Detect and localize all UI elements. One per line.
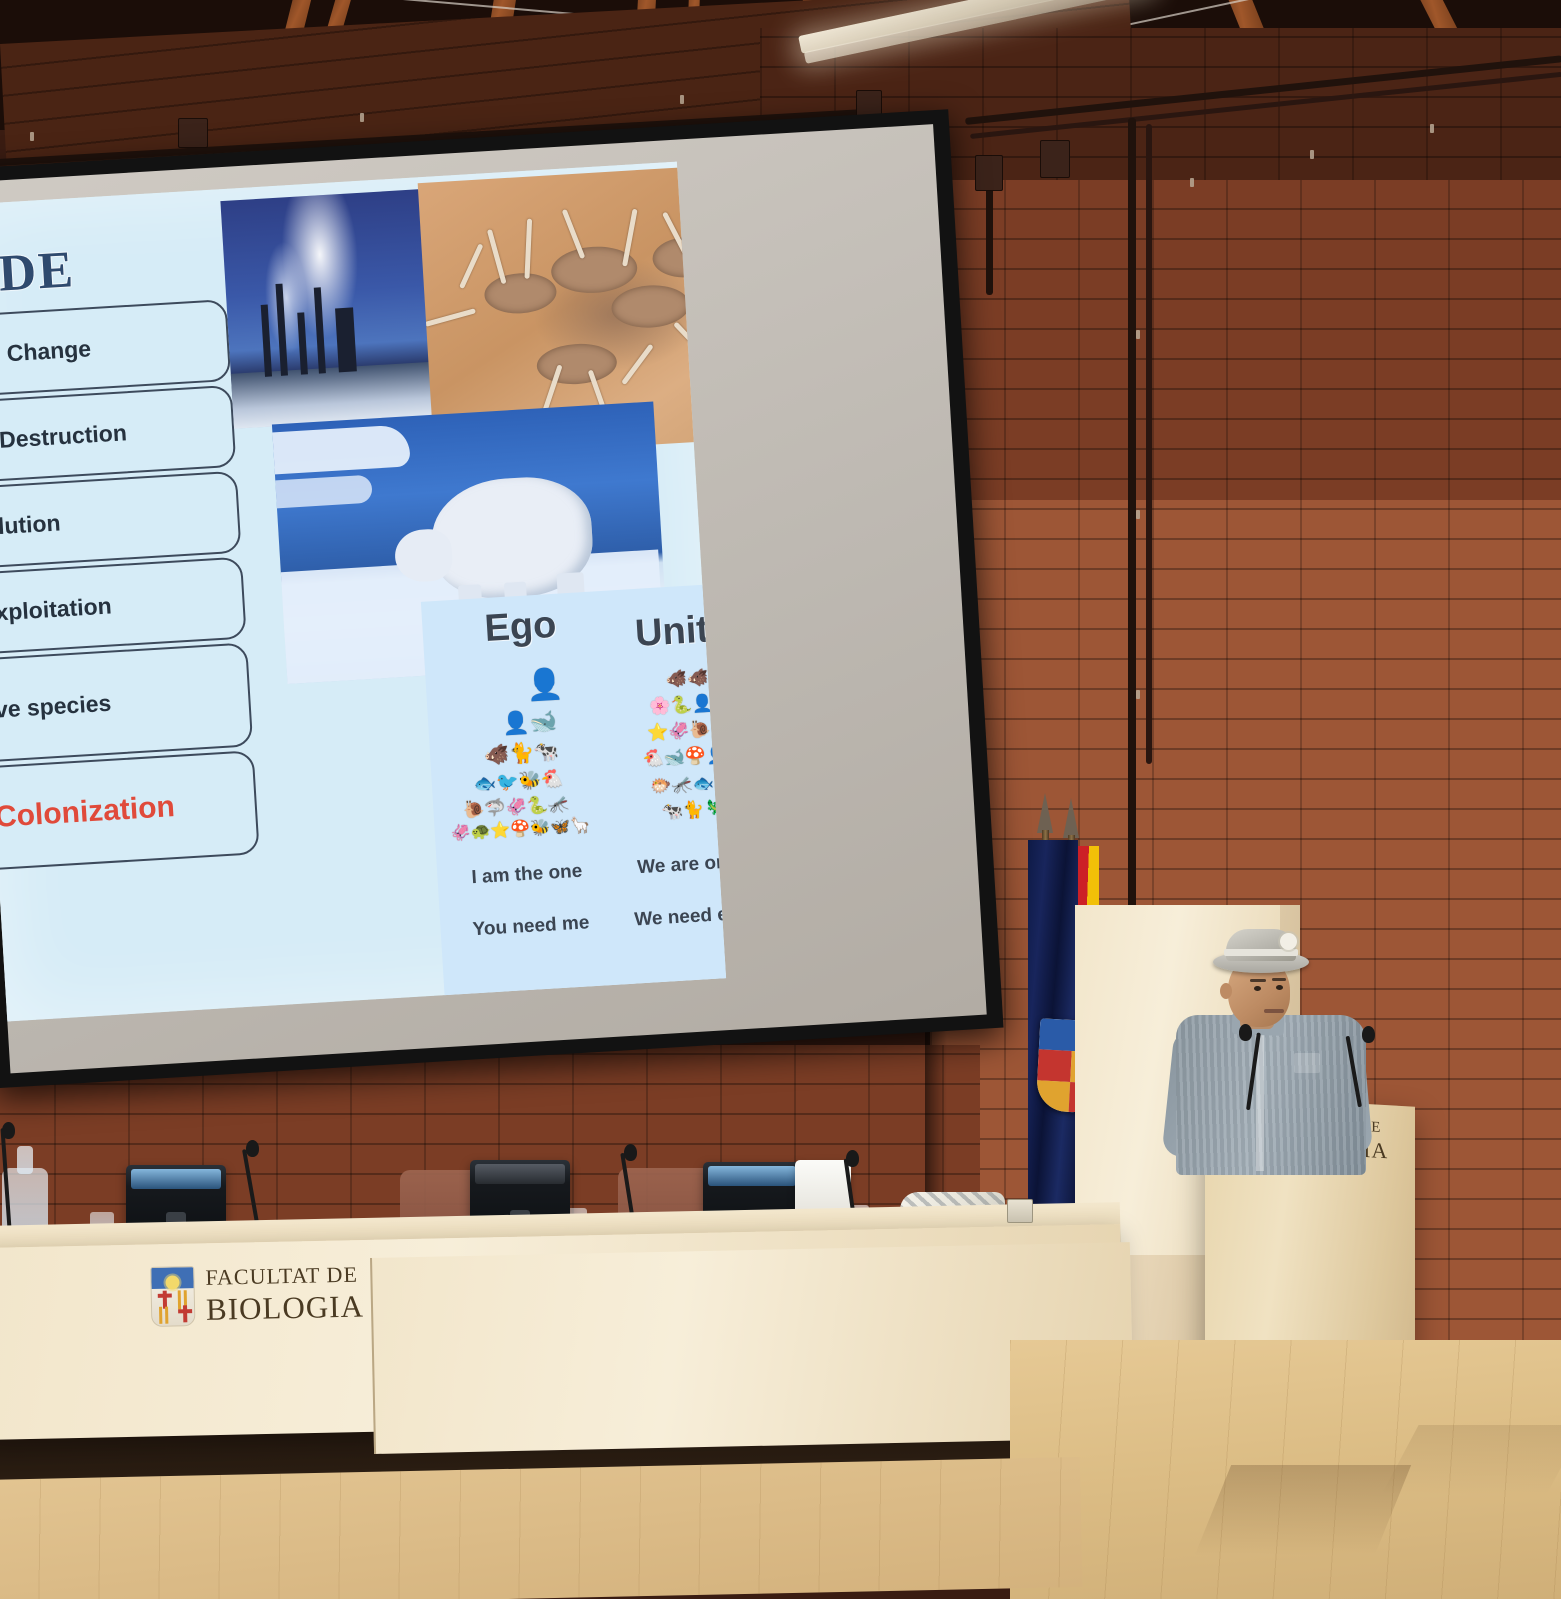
monitor-glow bbox=[708, 1166, 796, 1186]
unity-caption-2: We need each other bbox=[634, 899, 726, 932]
speaker-mouth bbox=[1264, 1009, 1284, 1013]
unity-circle-icon: ⭐🦑🐌🐢 bbox=[647, 719, 726, 741]
carcass-limb bbox=[621, 344, 654, 386]
table-logo-line1: FACULTAT DE bbox=[205, 1264, 363, 1289]
smokestack bbox=[335, 307, 357, 372]
carcass-limb bbox=[694, 264, 726, 300]
ego-caption-1: I am the one bbox=[471, 861, 583, 890]
slide-bullet-colonization: Colonization bbox=[0, 750, 260, 877]
speaker-eye bbox=[1254, 986, 1261, 991]
table-logo-text: FACULTAT DE BIOLOGIA bbox=[205, 1264, 364, 1325]
conduit-clip bbox=[30, 132, 34, 141]
carcass-limb bbox=[459, 243, 483, 289]
slide-title: OCIDE bbox=[0, 240, 76, 310]
speaker-presenter bbox=[1168, 935, 1378, 1165]
ego-pyramid-human-icon: 👤 bbox=[525, 669, 564, 701]
unity-circle-icon: 🐡🦟🐟🐦 bbox=[650, 773, 726, 795]
ego-pyramid-row-icon: 🦑🐢⭐🍄🐝🦋🦙 bbox=[450, 818, 590, 842]
table-microphone-head bbox=[624, 1144, 637, 1161]
carcass-limb bbox=[673, 321, 707, 356]
podium-floor-reflection bbox=[1195, 1465, 1411, 1555]
carcass-limb bbox=[487, 229, 507, 284]
bullet-label: ate Change bbox=[0, 335, 92, 369]
speaker-eyebrow bbox=[1272, 978, 1286, 981]
crest-cross bbox=[183, 1306, 187, 1323]
monitor-glow bbox=[475, 1164, 565, 1184]
smokestack bbox=[275, 283, 288, 375]
table-microphone-head bbox=[846, 1150, 859, 1167]
carcass-limb bbox=[425, 308, 476, 327]
conduit-clip bbox=[1430, 124, 1434, 133]
brick-wall-right-upper bbox=[930, 180, 1561, 540]
ego-caption-2: You need me bbox=[472, 912, 590, 941]
ego-pyramid-row-icon: 🐗🐈🐄 bbox=[484, 742, 560, 766]
unity-circle-icon: 🐔🐋🍄👤 bbox=[642, 746, 726, 768]
podium-microphone-head bbox=[1239, 1024, 1252, 1041]
unity-heading: Unity bbox=[634, 607, 726, 656]
carcass-limb bbox=[707, 296, 726, 318]
table-logo: FACULTAT DE BIOLOGIA bbox=[150, 1253, 382, 1336]
photo-smokestacks bbox=[220, 189, 433, 429]
ego-unity-infographic: Ego Unity 👤 👤🐋 🐗🐈🐄 🐟🐦🐝🐔 🐌🦈🦑🐍🦟 🦑🐢⭐🍄🐝🦋🦙 🐗🐗… bbox=[421, 580, 726, 998]
flagpole-finial bbox=[1037, 793, 1053, 833]
screen-surface: OCIDE ate Change at Destruction ollution… bbox=[0, 124, 987, 1073]
unity-caption-1: We are one bbox=[637, 851, 726, 879]
conduit-clip bbox=[1136, 330, 1140, 339]
crest-bar bbox=[178, 1290, 181, 1309]
presentation-slide: OCIDE ate Change at Destruction ollution… bbox=[0, 162, 726, 1022]
ice-floe bbox=[272, 475, 373, 509]
table-microphone-head bbox=[246, 1140, 259, 1157]
projection-screen: OCIDE ate Change at Destruction ollution… bbox=[0, 109, 1004, 1088]
conduit-pipe-vertical bbox=[1128, 118, 1136, 908]
conduit-clip bbox=[680, 95, 684, 104]
speaker-eyebrow bbox=[1250, 979, 1266, 982]
speaker-pocket bbox=[1294, 1053, 1320, 1073]
unity-circle-icon: 🐗🐗🐟 bbox=[665, 667, 726, 688]
ego-pyramid-row-icon: 🐌🦈🦑🐍🦟 bbox=[463, 795, 570, 818]
speaker-hat-band bbox=[1224, 949, 1298, 956]
bullet-label: at Destruction bbox=[0, 419, 128, 455]
speaker-eye bbox=[1276, 985, 1283, 990]
bullet-label: exploitation bbox=[0, 592, 112, 627]
flagpole-finial bbox=[1063, 798, 1079, 838]
table-logo-line2: BIOLOGIA bbox=[206, 1291, 364, 1325]
conduit-clip bbox=[1136, 690, 1140, 699]
ub-crest-icon bbox=[150, 1266, 195, 1327]
conduit-clip bbox=[1310, 150, 1314, 159]
bullet-label: ollution bbox=[0, 509, 61, 541]
speaker-hat-flower-icon bbox=[1280, 933, 1297, 950]
slide-bullet-list: ate Change at Destruction ollution explo… bbox=[0, 299, 260, 881]
wall-outlet bbox=[1007, 1199, 1033, 1223]
conduit-pipe-vertical bbox=[1146, 124, 1152, 764]
crest-quarter bbox=[1036, 1080, 1071, 1112]
conduit-clip bbox=[1136, 510, 1140, 519]
ice-floe bbox=[272, 424, 411, 474]
unity-circle-icon: 🐄🐈🦎 bbox=[661, 800, 725, 821]
slide-bullet-invasive-species: ive species bbox=[0, 642, 253, 769]
speaker-ear bbox=[1220, 983, 1232, 999]
lecture-hall-photo: OCIDE ate Change at Destruction ollution… bbox=[0, 0, 1561, 1599]
carcass-body bbox=[483, 271, 557, 315]
junction-box bbox=[975, 155, 1003, 191]
carafe-neck bbox=[17, 1146, 33, 1174]
crest-bar bbox=[159, 1307, 162, 1324]
carcass-body bbox=[536, 342, 618, 387]
stage-floor-left bbox=[0, 1457, 1082, 1599]
conduit-clip bbox=[360, 113, 364, 122]
ego-heading: Ego bbox=[483, 604, 557, 651]
bullet-label: ive species bbox=[0, 689, 112, 723]
carcass-limb bbox=[524, 219, 532, 279]
junction-box bbox=[1040, 140, 1070, 178]
ego-pyramid-row-icon: 👤🐋 bbox=[502, 710, 558, 735]
monitor-glow bbox=[131, 1169, 221, 1189]
ego-pyramid-row-icon: 🐟🐦🐝🐔 bbox=[473, 770, 564, 793]
smokestack bbox=[314, 287, 326, 373]
speaker-torso bbox=[1176, 1015, 1366, 1175]
carcass-body bbox=[651, 235, 719, 279]
junction-box bbox=[178, 118, 208, 148]
crest-quarter bbox=[1037, 1050, 1072, 1082]
table-microphone-head bbox=[2, 1122, 15, 1139]
podium-microphone-head bbox=[1362, 1026, 1375, 1043]
bullet-label: Colonization bbox=[0, 790, 176, 835]
unity-circle-icon: 🌸🐍👤🐝 bbox=[649, 693, 726, 715]
conduit-clip bbox=[1190, 178, 1194, 187]
smokestack bbox=[261, 304, 272, 376]
smokestack bbox=[297, 312, 308, 374]
crest-bar bbox=[165, 1306, 168, 1323]
